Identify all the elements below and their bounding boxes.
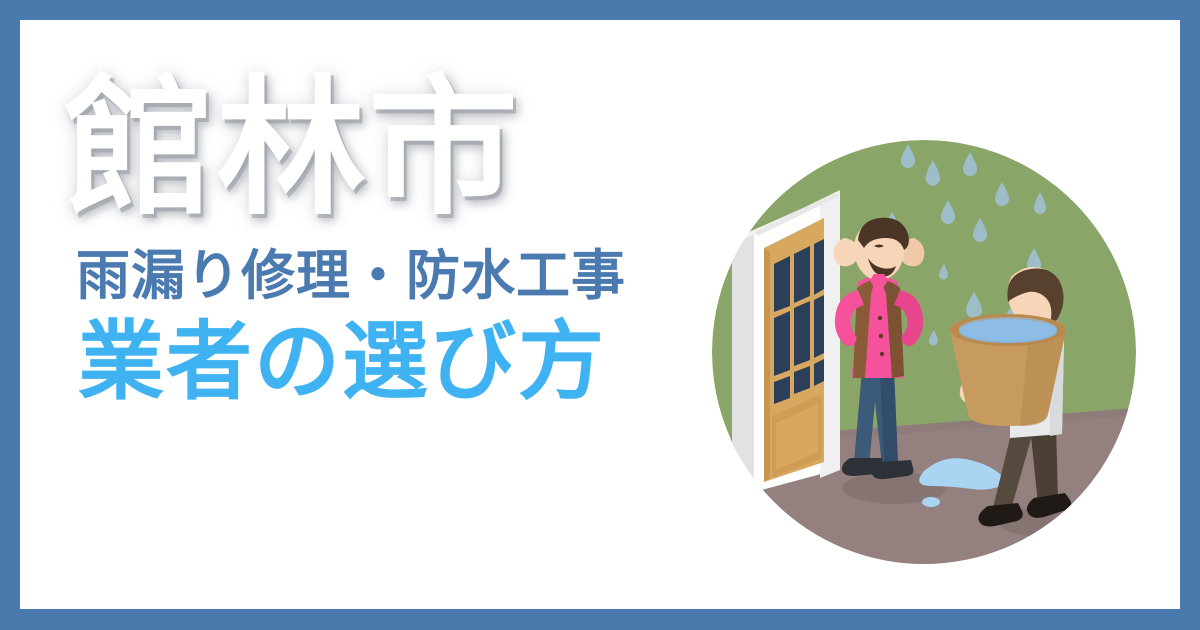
banner-card: 館林市 雨漏り修理・防水工事 業者の選び方: [20, 20, 1180, 609]
puddle-drop-small-1: [980, 470, 992, 480]
door-panel-edge: [764, 248, 770, 482]
door-alcove-shadow: [732, 234, 754, 498]
leak-illustration-svg: [712, 140, 1136, 564]
water-bucket: [950, 314, 1066, 426]
door-glass-panes: [774, 239, 824, 404]
page-title: 館林市: [64, 68, 724, 230]
puddle-drop-small-2: [922, 497, 940, 507]
subtitle: 雨漏り修理・防水工事: [76, 244, 724, 308]
banner-root: 館林市 雨漏り修理・防水工事 業者の選び方: [0, 0, 1200, 630]
scene-group: [712, 140, 1136, 564]
leak-illustration: [712, 140, 1136, 564]
headline: 業者の選び方: [78, 314, 724, 410]
bucket-water-highlight: [959, 317, 1057, 341]
text-block: 館林市 雨漏り修理・防水工事 業者の選び方: [64, 68, 724, 410]
